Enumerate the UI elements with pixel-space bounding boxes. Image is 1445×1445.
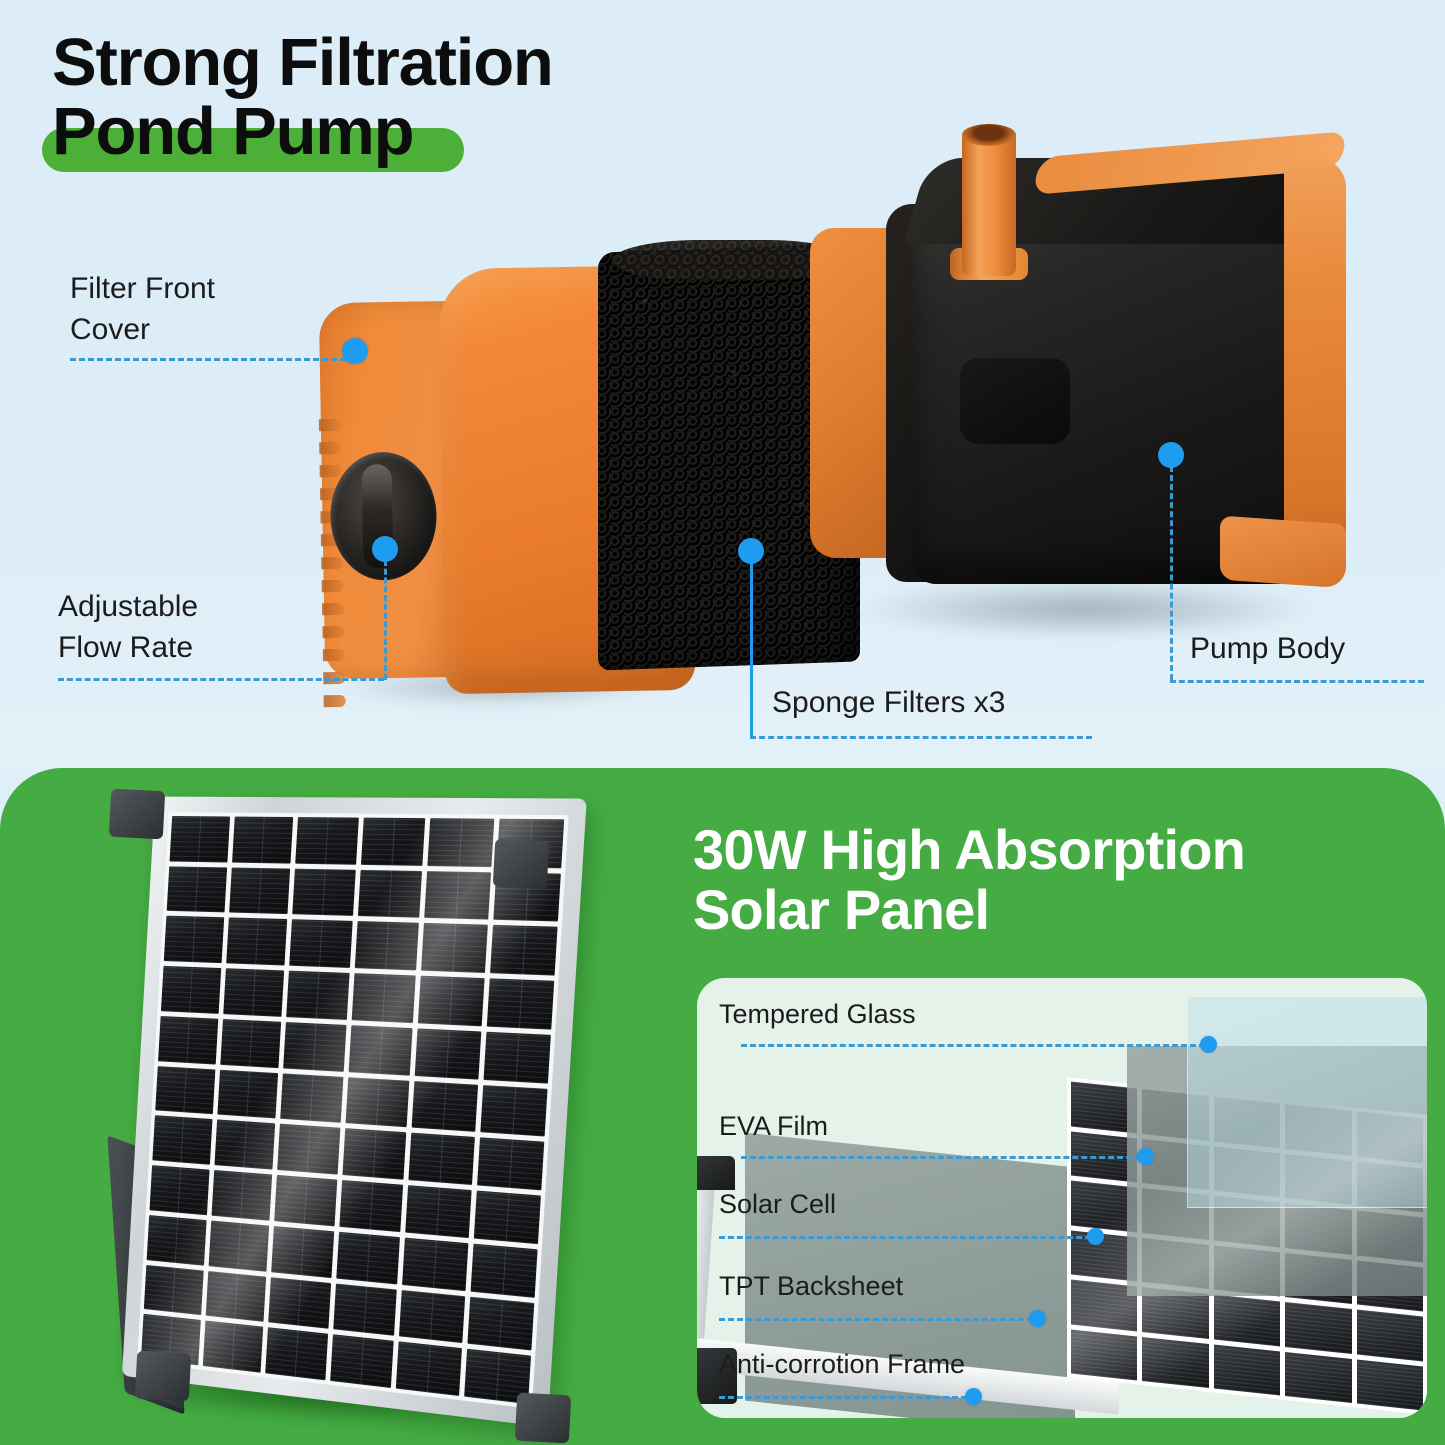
callout-filter-front-cover: Filter Front Cover	[70, 268, 215, 351]
hotspot-dot-tempered-glass	[1200, 1036, 1217, 1053]
callout-adjustable-flow-rate: Adjustable Flow Rate	[58, 586, 198, 669]
solar-panel-frame	[122, 797, 587, 1428]
solar-panel-corner-cap-top-left	[109, 789, 165, 840]
callout-pump-body: Pump Body	[1190, 628, 1345, 669]
leader-line-eva-film	[741, 1156, 1141, 1159]
solar-panel-corner-cap-top-right	[493, 839, 549, 890]
leader-line-pump-body-vertical	[1170, 466, 1173, 680]
solar-panel-corner-cap-bottom-right	[515, 1393, 571, 1444]
callout-solar-cell: Solar Cell	[719, 1186, 836, 1223]
callout-tempered-glass: Tempered Glass	[719, 996, 916, 1033]
pump-body-side-recess	[960, 358, 1070, 444]
hotspot-dot-anti-corrotion-frame	[965, 1388, 982, 1405]
callout-eva-film: EVA Film	[719, 1108, 828, 1145]
leader-line-filter-front-cover	[70, 358, 346, 361]
leader-line-sponge-filters-underline	[750, 736, 1092, 739]
callout-anti-corrotion-frame: Anti-corrotion Frame	[719, 1346, 965, 1383]
leader-line-adjustable-flow-rate-vertical	[384, 560, 387, 680]
callout-filter-front-cover-line2: Cover	[70, 309, 215, 350]
callout-adjustable-flow-rate-line2: Flow Rate	[58, 627, 198, 668]
solar-section-title-line2: Solar Panel	[693, 880, 1433, 940]
hotspot-dot-adjustable-flow-rate	[372, 536, 398, 562]
solar-panel-glass	[137, 812, 569, 1409]
callout-tpt-backsheet-label: TPT Backsheet	[719, 1268, 903, 1305]
leader-line-solar-cell	[719, 1236, 1091, 1239]
pump-outlet-opening	[962, 124, 1016, 146]
solar-panel-corner-cap-bottom-left	[135, 1351, 191, 1402]
callout-sponge-filters-label: Sponge Filters x3	[772, 682, 1005, 723]
leader-line-pump-body-underline	[1170, 680, 1424, 683]
pump-body-graphic	[790, 128, 1350, 668]
title-line-2-wrap: Pond Pump	[52, 97, 413, 166]
hotspot-dot-eva-film	[1137, 1148, 1154, 1165]
pump-body-orange-bottom-cap	[1220, 516, 1346, 589]
callout-solar-cell-label: Solar Cell	[719, 1186, 836, 1223]
title-line-2: Pond Pump	[52, 97, 413, 166]
pump-body-orange-end-cap	[1284, 155, 1346, 580]
pond-pump-section: Strong Filtration Pond Pump	[0, 0, 1445, 770]
leader-line-sponge-filters-vertical	[750, 560, 753, 736]
solar-section-title-line1: 30W High Absorption	[693, 820, 1433, 880]
leader-line-tpt-backsheet	[719, 1318, 1033, 1321]
layer-frame-top-elbow	[697, 1156, 735, 1190]
filter-cover-ridges	[319, 419, 346, 711]
page-title: Strong Filtration Pond Pump	[52, 28, 752, 166]
leader-line-anti-corrotion-frame	[719, 1396, 967, 1399]
leader-line-tempered-glass	[741, 1044, 1205, 1047]
callout-adjustable-flow-rate-line1: Adjustable	[58, 586, 198, 627]
hotspot-dot-tpt-backsheet	[1029, 1310, 1046, 1327]
solar-panel-product-photo	[96, 790, 616, 1430]
title-line-1: Strong Filtration	[52, 28, 752, 97]
solar-section-title: 30W High Absorption Solar Panel	[693, 820, 1433, 940]
solar-layer-diagram-card: Tempered Glass EVA Film Solar Cell TPT B…	[697, 978, 1427, 1418]
callout-sponge-filters: Sponge Filters x3	[772, 682, 1005, 723]
hotspot-dot-pump-body	[1158, 442, 1184, 468]
callout-tempered-glass-label: Tempered Glass	[719, 996, 916, 1033]
solar-panel-cell-grid	[137, 812, 569, 1409]
callout-anti-corrotion-frame-label: Anti-corrotion Frame	[719, 1346, 965, 1383]
callout-eva-film-label: EVA Film	[719, 1108, 828, 1145]
hotspot-dot-filter-front-cover	[342, 338, 368, 364]
solar-panel-section: 30W High Absorption Solar Panel	[0, 768, 1445, 1445]
pump-outlet-spout	[962, 128, 1016, 276]
leader-line-adjustable-flow-rate-horizontal	[58, 678, 384, 681]
callout-pump-body-label: Pump Body	[1190, 628, 1345, 669]
callout-tpt-backsheet: TPT Backsheet	[719, 1268, 903, 1305]
infographic-canvas: Strong Filtration Pond Pump	[0, 0, 1445, 1445]
layer-tempered-glass-graphic	[1187, 996, 1427, 1208]
callout-filter-front-cover-line1: Filter Front	[70, 268, 215, 309]
hotspot-dot-solar-cell	[1087, 1228, 1104, 1245]
